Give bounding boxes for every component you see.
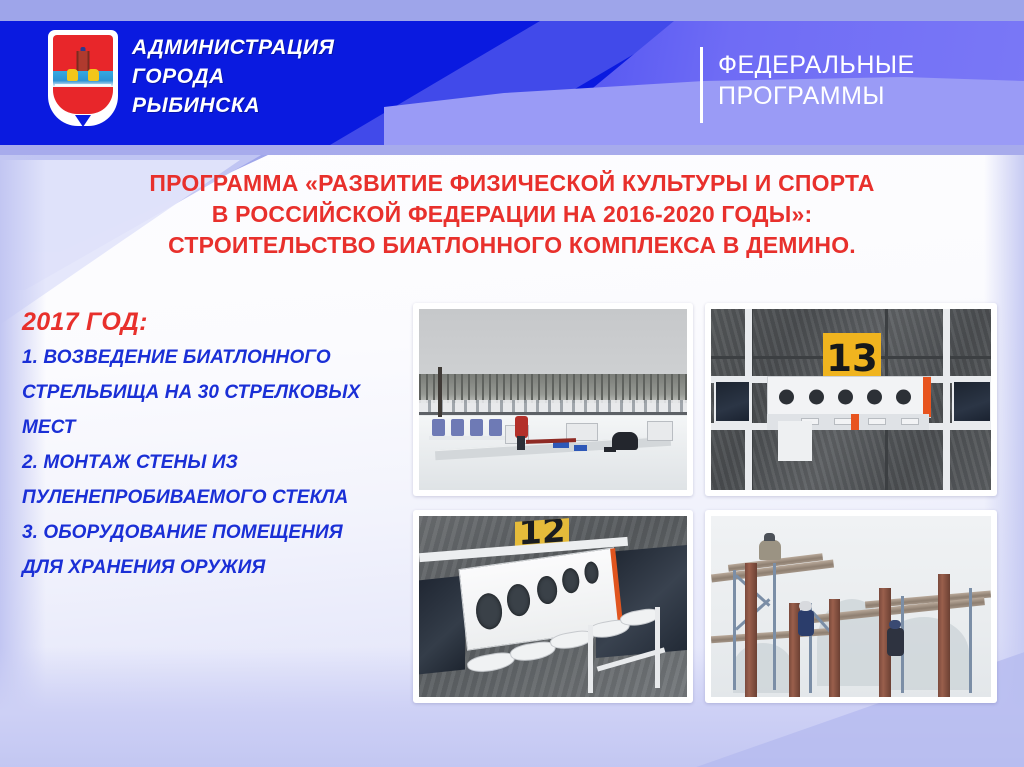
photo-grid: 13 [413,303,997,703]
target-unit [451,419,464,436]
target-hole [584,560,600,584]
list-item: 1. ВОЗВЕДЕНИЕ БИАТЛОННОГО [22,340,412,375]
worker-climbing [798,610,814,636]
list-item: СТРЕЛЬБИЩА НА 30 СТРЕЛКОВЫХ [22,375,412,410]
background-fence [419,400,687,413]
year-label: 2017 ГОД: [22,308,148,337]
steel-column [938,574,950,697]
target-board [767,376,931,418]
target-hole [561,567,580,594]
snowy-tree [733,643,793,694]
works-list: 1. ВОЗВЕДЕНИЕ БИАТЛОННОГО СТРЕЛЬБИЩА НА … [22,340,412,585]
steel-column [829,599,840,697]
emblem-river-line [55,84,111,86]
target-red-strip [923,377,931,417]
photo-canvas [419,309,687,490]
header-top-strip [0,0,1024,21]
target-lever [834,418,852,425]
photo-scaffolding-construction [705,510,997,703]
list-item: ПУЛЕНЕПРОБИВАЕМОГО СТЕКЛА [22,480,412,515]
side-panel-left [714,380,752,424]
photo-canvas: 13 [711,309,991,490]
photo-canvas [711,516,991,697]
support-post [778,421,812,461]
target-hole [535,574,558,605]
scaffold-upright [773,563,776,690]
side-panel-right [952,380,991,424]
slide: АДМИНИСТРАЦИЯ ГОРОДА РЫБИНСКА ФЕДЕРАЛЬНЫ… [0,0,1024,767]
target-lever [901,418,919,425]
photo-target-board-12: 12 [413,510,693,703]
administration-title: АДМИНИСТРАЦИЯ ГОРОДА РЫБИНСКА [132,33,335,120]
scaffold-upright [969,588,972,693]
worker-red-jacket [515,416,528,438]
target-number-text: 13 [826,340,878,377]
steel-column [745,563,757,697]
target-hole [505,582,531,617]
worker-dark-jacket [612,432,638,450]
target-dot [896,389,911,404]
target-unit [432,419,445,436]
dark-panel-left [419,575,465,674]
support-leg [655,607,660,688]
target-hole [475,591,505,630]
range-rail [419,412,687,415]
target-lever [868,418,886,425]
worker-seated [759,540,781,560]
emblem-bear-right [88,69,99,81]
red-indicator [851,414,859,430]
support-leg [588,625,593,694]
rybinsk-coat-of-arms-icon [48,30,118,126]
frame-post [943,309,950,490]
target-dot [838,389,853,404]
emblem-bear-left [67,69,78,81]
page-title: ПРОГРАММА «РАЗВИТИЕ ФИЗИЧЕСКОЙ КУЛЬТУРЫ … [60,168,964,261]
federal-title-divider [700,47,703,123]
list-item: ДЛЯ ХРАНЕНИЯ ОРУЖИЯ [22,550,412,585]
target-dot [867,389,882,404]
photo-shooting-range-snow [413,303,693,496]
blue-crate [574,445,587,451]
pole [438,367,442,417]
header-bottom-strip [0,145,1024,155]
target-dot [809,389,824,404]
list-item: 2. МОНТАЖ СТЕНЫ ИЗ [22,445,412,480]
target-unit [489,419,502,436]
target-unit [470,419,483,436]
federal-programs-title: ФЕДЕРАЛЬНЫЕ ПРОГРАММЫ [718,50,915,112]
list-item: МЕСТ [22,410,412,445]
photo-canvas: 12 [419,516,687,697]
worker-standing [887,628,904,656]
photo-target-board-13: 13 [705,303,997,496]
equipment-stand [647,421,673,441]
target-dot [779,389,794,404]
shield-field [53,35,113,114]
list-item: 3. ОБОРУДОВАНИЕ ПОМЕЩЕНИЯ [22,515,412,550]
